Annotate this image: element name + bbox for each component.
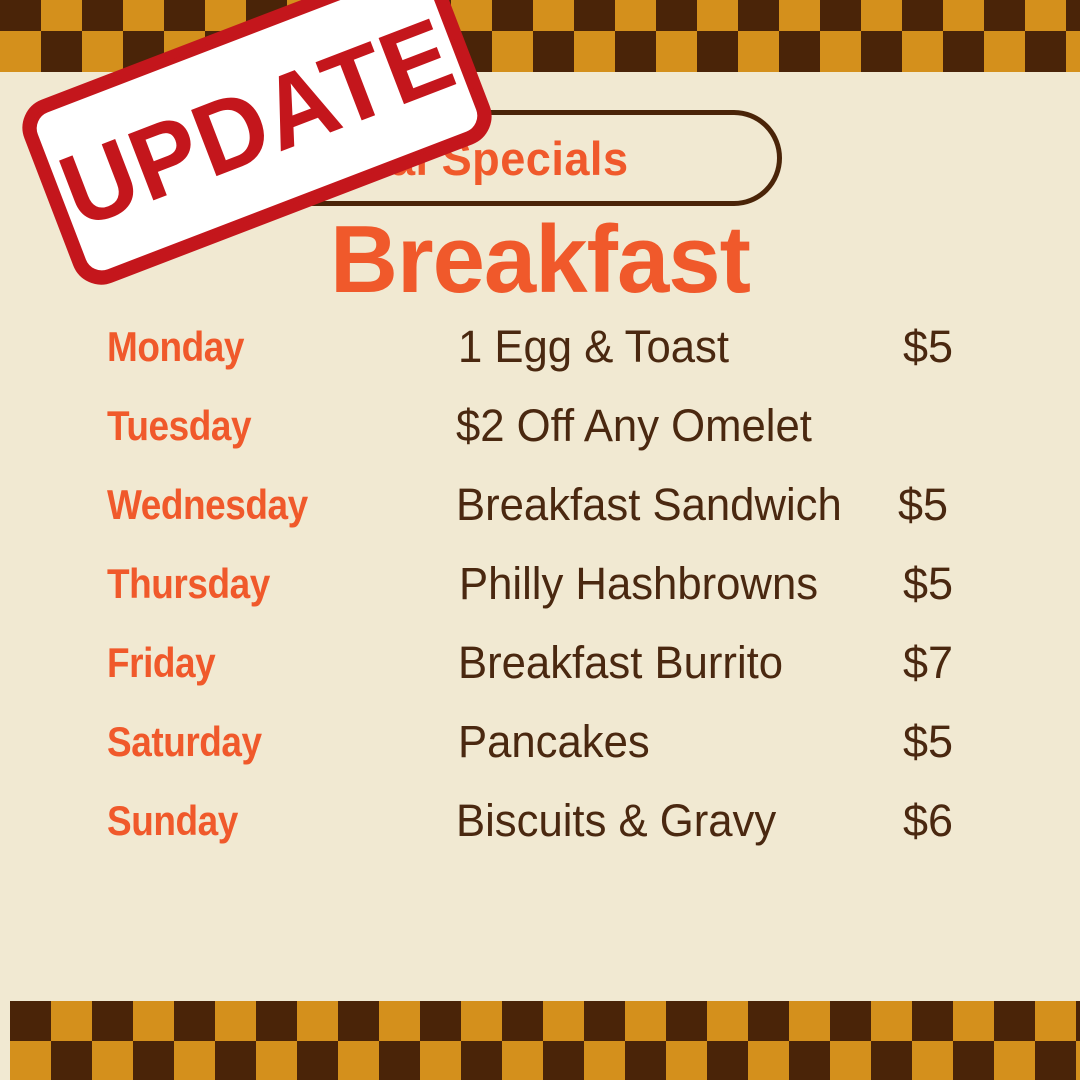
checker-cell-dark [82,0,123,31]
menu-day-label: Wednesday [107,476,308,534]
checker-cell-gold [338,1041,379,1080]
menu-poster: al Specials Breakfast Monday1 Egg & Toas… [0,0,1080,1080]
checker-cell-dark [256,1001,297,1041]
checker-cell-dark [543,1041,584,1080]
checker-cell-gold [830,1041,871,1080]
checker-cell-gold [707,1001,748,1041]
checker-cell-dark [871,1041,912,1080]
menu-item-label: Breakfast Sandwich [456,476,842,534]
menu-row: WednesdayBreakfast Sandwich$5 [0,476,1080,555]
checker-cell-gold [861,0,902,31]
checker-cell-dark [789,1041,830,1080]
menu-day-label: Friday [107,634,215,692]
menu-item-label: Philly Hashbrowns [459,555,818,613]
checker-cell-dark [697,31,738,72]
checker-cell-dark [41,31,82,72]
checker-cell-gold [748,1041,789,1080]
checker-cell-gold [779,0,820,31]
checker-cell-gold [902,31,943,72]
menu-day-label: Monday [107,318,244,376]
checker-cell-gold [984,31,1025,72]
checkerboard-row [10,1041,1080,1080]
menu-row: Monday1 Egg & Toast$5 [0,318,1080,397]
checker-cell-dark [656,0,697,31]
checker-cell-dark [1076,1001,1080,1041]
menu-row: SaturdayPancakes$5 [0,713,1080,792]
checker-cell-dark [297,1041,338,1080]
checker-cell-gold [92,1041,133,1080]
checkerboard-row [0,0,1080,31]
menu-day-label: Saturday [107,713,262,771]
checker-cell-dark [461,1041,502,1080]
checker-cell-dark [92,1001,133,1041]
checker-cell-gold [41,0,82,31]
checker-cell-gold [625,1001,666,1041]
checker-cell-dark [830,1001,871,1041]
checkerboard-band-bottom [10,1001,1080,1080]
checker-cell-gold [666,1041,707,1080]
checker-cell-gold [10,1041,51,1080]
checker-cell-gold [994,1041,1035,1080]
checker-cell-dark [666,1001,707,1041]
checker-cell-gold [912,1041,953,1080]
checker-cell-dark [902,0,943,31]
checker-cell-dark [215,1041,256,1080]
checker-cell-gold [1066,31,1080,72]
checker-cell-gold [1035,1001,1076,1041]
checker-cell-dark [574,0,615,31]
checker-cell-dark [51,1041,92,1080]
checker-cell-gold [1025,0,1066,31]
checker-cell-dark [338,1001,379,1041]
checker-cell-dark [738,0,779,31]
checker-cell-gold [256,1041,297,1080]
checker-cell-dark [1025,31,1066,72]
menu-item-label: 1 Egg & Toast [458,318,729,376]
menu-item-label: Breakfast Burrito [458,634,783,692]
checker-cell-dark [1066,0,1080,31]
checker-cell-dark [533,31,574,72]
checker-cell-dark [861,31,902,72]
menu-row: FridayBreakfast Burrito$7 [0,634,1080,713]
checker-cell-dark [164,0,205,31]
checker-cell-gold [174,1041,215,1080]
checker-cell-dark [994,1001,1035,1041]
checker-cell-gold [461,1001,502,1041]
checker-cell-dark [707,1041,748,1080]
checker-cell-dark [174,1001,215,1041]
checker-cell-dark [502,1001,543,1041]
checker-cell-gold [1076,1041,1080,1080]
menu-row: Tuesday$2 Off Any Omelet [0,397,1080,476]
checker-cell-gold [543,1001,584,1041]
checker-cell-dark [0,0,41,31]
checker-cell-gold [953,1001,994,1041]
checker-cell-gold [492,31,533,72]
checker-cell-gold [0,31,41,72]
checker-cell-dark [820,0,861,31]
checker-cell-dark [984,0,1025,31]
menu-row: SundayBiscuits & Gravy$6 [0,792,1080,871]
checker-cell-gold [656,31,697,72]
menu-day-label: Sunday [107,792,238,850]
checker-cell-dark [1035,1041,1076,1080]
checker-cell-gold [51,1001,92,1041]
checker-cell-gold [820,31,861,72]
menu-item-price: $5 [903,713,953,771]
checker-cell-dark [584,1001,625,1041]
menu-item-price: $7 [903,634,953,692]
checker-cell-gold [574,31,615,72]
checker-cell-dark [625,1041,666,1080]
checker-cell-dark [379,1041,420,1080]
checker-cell-gold [502,1041,543,1080]
checker-cell-gold [297,1001,338,1041]
menu-item-price: $5 [898,476,948,534]
checker-cell-gold [123,0,164,31]
checker-cell-dark [133,1041,174,1080]
menu-item-price: $5 [903,318,953,376]
checker-cell-dark [779,31,820,72]
menu-item-price: $5 [903,555,953,613]
checkerboard-row [10,1001,1080,1041]
checker-cell-dark [10,1001,51,1041]
checker-cell-gold [697,0,738,31]
menu-day-label: Tuesday [107,397,251,455]
checker-cell-gold [584,1041,625,1080]
checker-cell-gold [133,1001,174,1041]
checker-cell-dark [615,31,656,72]
checker-cell-dark [748,1001,789,1041]
menu-item-label: Pancakes [458,713,650,771]
checker-cell-gold [379,1001,420,1041]
checker-cell-gold [82,31,123,72]
menu-list: Monday1 Egg & Toast$5Tuesday$2 Off Any O… [0,318,1080,871]
checker-cell-gold [615,0,656,31]
checker-cell-dark [912,1001,953,1041]
checker-cell-gold [215,1001,256,1041]
menu-item-label: Biscuits & Gravy [456,792,776,850]
checker-cell-gold [420,1041,461,1080]
checker-cell-dark [420,1001,461,1041]
checker-cell-gold [738,31,779,72]
checker-cell-dark [943,31,984,72]
checker-cell-dark [953,1041,994,1080]
checker-cell-gold [871,1001,912,1041]
checker-cell-dark [492,0,533,31]
menu-item-label: $2 Off Any Omelet [456,397,812,455]
menu-day-label: Thursday [107,555,270,613]
checker-cell-gold [789,1001,830,1041]
menu-row: ThursdayPhilly Hashbrowns$5 [0,555,1080,634]
checker-cell-gold [533,0,574,31]
menu-item-price: $6 [903,792,953,850]
checker-cell-gold [943,0,984,31]
